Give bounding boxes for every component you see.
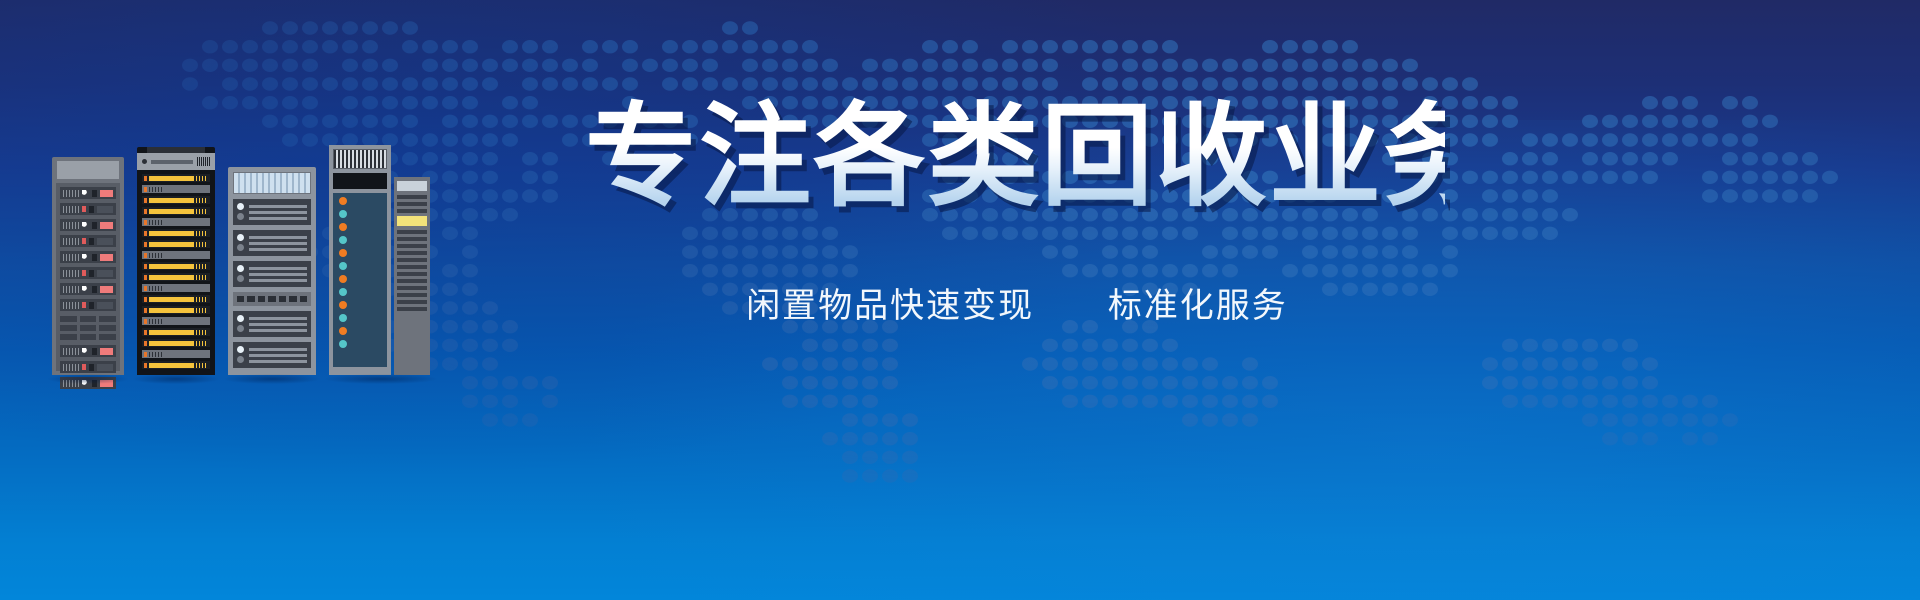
rack1-blade [60,251,116,263]
rack1-blade [60,203,116,215]
rack2-blade [142,229,210,237]
rack2-shadow [133,374,219,384]
rack1-body [56,183,120,371]
rack3-module [233,199,311,225]
rack4-side-cabinet [394,177,430,375]
rack-grey-red-blades [52,157,124,375]
rack2-blade [142,328,210,336]
rack3-shadow [224,374,320,384]
rack1-blade [60,345,116,357]
rack1-blade [60,361,116,373]
rack2-blade [142,339,210,347]
rack2-blade [142,262,210,270]
rack3-module [233,342,311,368]
rack2-blade [142,284,210,292]
rack1-blade [60,283,116,295]
rack3-vent-panel [233,172,311,194]
rack1-shadow [48,374,128,384]
rack2-blade [142,218,210,226]
rack4-barcode-panel [333,149,387,169]
rack2-blade [142,361,210,369]
rack4-led-column [333,193,387,367]
rack1-blade [60,267,116,279]
rack2-blade [142,240,210,248]
rack2-blade [142,350,210,358]
rack2-blade [142,196,210,204]
rack3-module [233,311,311,337]
rack2-blade [142,251,210,259]
rack-dark-led-column [329,145,433,375]
rack4-amber-slab [397,216,427,226]
banner-subtitle: 闲置物品快速变现 标准化服务 [637,278,1397,327]
rack1-blade [60,299,116,311]
rack3-module [233,261,311,287]
rack1-blade [60,187,116,199]
rack1-blade [60,219,116,231]
rack3-module [233,230,311,256]
rack-bluegrey-modules [228,167,316,375]
rack2-blade [142,317,210,325]
rack-black-amber-bars [137,147,215,375]
rack2-blade [142,174,210,182]
rack2-blade [142,185,210,193]
banner-subtitle-secondary: 标准化服务 [1108,286,1288,326]
banner-copy: 专注各类回收业务 闲置物品快速变现 标准化服务 [585,95,1445,327]
banner-headline: 专注各类回收业务 [585,95,1445,220]
rack4-main-cabinet [329,145,391,375]
promo-banner: 专注各类回收业务 闲置物品快速变现 标准化服务 [0,0,1920,600]
rack4-display-panel [333,173,387,189]
rack2-blade [142,295,210,303]
rack4-shadow [325,374,437,384]
rack1-port-grid [60,316,116,340]
rack1-blade [60,235,116,247]
rack1-top-panel [57,161,119,179]
banner-subtitle-primary: 闲置物品快速变现 [746,286,1034,326]
rack2-blade [142,273,210,281]
server-rack-illustration [52,145,433,375]
rack2-control-panel [137,153,215,170]
rack2-blade [142,306,210,314]
rack2-blade [142,207,210,215]
rack2-body [137,170,215,376]
rack3-port-strip [233,292,311,306]
